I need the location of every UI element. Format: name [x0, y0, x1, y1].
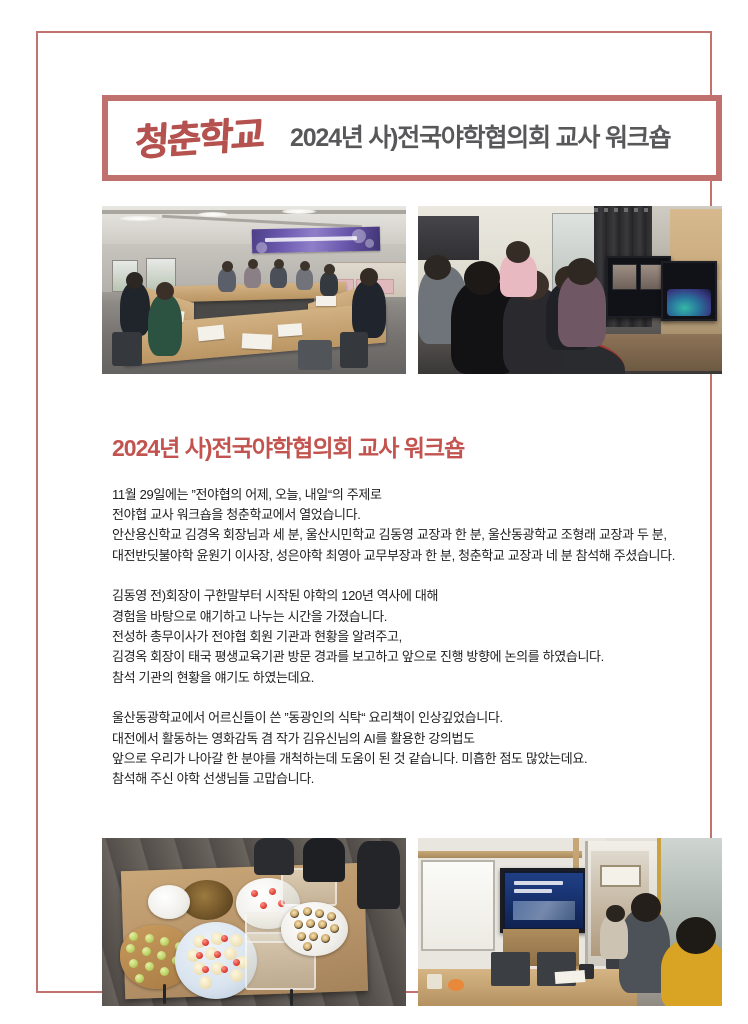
ceiling-beam: [418, 851, 582, 858]
side-dish-plate: [148, 885, 191, 919]
cherry-tomato: [202, 966, 209, 973]
participant-head: [676, 917, 716, 954]
screen-gradient: [667, 289, 710, 316]
gimbap-piece: [303, 907, 312, 916]
dark-shelf: [418, 216, 479, 260]
photo-workshop-meeting-room: [102, 206, 406, 374]
participant-head: [248, 259, 258, 269]
participant-head: [360, 268, 378, 286]
page-content: 청춘학교 2024년 사)전국야학협의회 교사 워크숍: [102, 95, 722, 1015]
monitor-right: [661, 261, 717, 320]
paper-sheet: [242, 333, 273, 350]
event-banner: [252, 227, 380, 254]
ceiling-light: [282, 209, 316, 214]
video-call-tile: [612, 264, 637, 290]
article-paragraph: 울산동광학교에서 어르신들이 쓴 ”동광인의 식탁“ 요리책이 인상깊었습니다.…: [112, 708, 722, 790]
cherry-tomato: [260, 902, 267, 909]
participant-head: [324, 264, 335, 275]
participant-head: [300, 261, 310, 271]
orange: [448, 979, 463, 991]
slide-title-line: [514, 881, 562, 885]
standing-person: [357, 841, 400, 908]
cheongchun-school-logo: 청춘학교: [108, 101, 290, 175]
table-leg: [163, 984, 166, 1004]
canape: [230, 934, 243, 947]
presentation-slide: [505, 873, 583, 928]
participant-head: [156, 282, 174, 300]
header-title: 2024년 사)전국야학협의회 교사 워크숍: [290, 126, 716, 151]
ceiling-beam: [102, 210, 406, 214]
participant-head: [222, 261, 233, 272]
banner-graphic: [352, 229, 366, 243]
participant-head: [567, 258, 597, 285]
participant: [296, 268, 313, 290]
article-body: 2024년 사)전국야학협의회 교사 워크숍 11월 29일에는 ”전야협의 어…: [112, 435, 722, 790]
banner-graphic: [365, 238, 374, 247]
standing-person: [303, 838, 346, 882]
cherry-tomato: [251, 890, 258, 897]
gimbap-piece: [303, 942, 312, 951]
corridor-person-head: [606, 905, 624, 922]
gimbap-piece: [306, 919, 315, 928]
grape: [145, 934, 154, 943]
participant: [270, 266, 287, 288]
paper-sheet: [278, 323, 303, 337]
header-banner: 청춘학교 2024년 사)전국야학협의회 교사 워크숍: [102, 95, 722, 181]
photo-online-session-room: [418, 206, 722, 374]
chair: [112, 332, 142, 366]
presenter-head: [631, 893, 661, 922]
article-heading: 2024년 사)전국야학협의회 교사 워크숍: [112, 435, 722, 463]
participant: [320, 272, 338, 296]
participant: [352, 280, 386, 338]
participant-head: [464, 261, 500, 295]
canape: [230, 969, 243, 982]
participant-head: [274, 259, 284, 269]
paper-sheet: [197, 325, 224, 342]
gimbap-piece: [330, 924, 339, 933]
ceiling-light: [198, 212, 228, 217]
chair: [340, 332, 368, 368]
gimbap-piece: [309, 932, 318, 941]
participant: [120, 282, 150, 336]
gimbap-piece: [294, 920, 303, 929]
paper-sheet: [316, 296, 336, 306]
participant: [244, 266, 261, 288]
slide-photo: [513, 901, 575, 921]
top-photo-row: [102, 206, 722, 374]
logo-calligraphy-text: 청춘학교: [134, 115, 264, 161]
whiteboard: [421, 860, 495, 951]
photo-presentation-room: [418, 838, 722, 1006]
paper-sheet: [554, 970, 585, 984]
page-border-frame: 청춘학교 2024년 사)전국야학협의회 교사 워크숍: [36, 31, 712, 993]
grape: [160, 937, 169, 946]
article-paragraph: 11월 29일에는 ”전야협의 어제, 오늘, 내일“의 주제로 전야협 교사 …: [112, 485, 722, 567]
cherry-tomato: [221, 935, 228, 942]
gimbap-piece: [321, 934, 330, 943]
article-paragraph: 김동영 전)회장이 구한말부터 시작된 야학의 120년 역사에 대해 경험을 …: [112, 586, 722, 688]
cup: [427, 974, 442, 989]
wall-frame: [600, 865, 640, 887]
chair: [298, 340, 332, 370]
banner-graphic: [256, 242, 267, 253]
bottom-photo-row: [102, 838, 722, 1006]
canape: [199, 976, 212, 989]
chair: [491, 952, 531, 986]
tv-screen: [500, 868, 588, 933]
cherry-tomato: [233, 959, 240, 966]
standing-person: [254, 838, 294, 875]
participant: [148, 294, 182, 356]
photo-potluck-food-table: [102, 838, 406, 1006]
slide-subtitle-line: [514, 889, 551, 893]
grape: [157, 951, 166, 960]
gimbap-piece: [297, 932, 306, 941]
gimbap-piece: [315, 909, 324, 918]
participant-head: [126, 272, 143, 289]
grape: [145, 962, 154, 971]
ceiling-light: [120, 216, 158, 221]
grape: [142, 947, 151, 956]
cherry-tomato: [221, 966, 228, 973]
gimbap-piece: [327, 912, 336, 921]
